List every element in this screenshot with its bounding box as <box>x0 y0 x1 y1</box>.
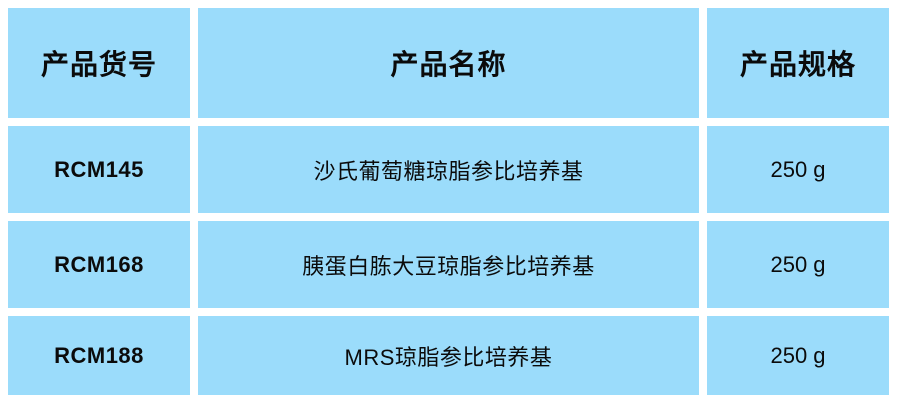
cell-product-name: 沙氏葡萄糖琼脂参比培养基 <box>198 126 699 213</box>
cell-product-code: RCM188 <box>8 316 190 395</box>
product-specification-table: 产品货号 产品名称 产品规格 RCM145 沙氏葡萄糖琼脂参比培养基 250 g… <box>0 0 897 403</box>
table-header-row: 产品货号 产品名称 产品规格 <box>8 8 889 118</box>
column-header-product-name: 产品名称 <box>198 8 699 118</box>
cell-product-name: MRS琼脂参比培养基 <box>198 316 699 395</box>
column-header-product-spec: 产品规格 <box>707 8 889 118</box>
cell-product-code: RCM145 <box>8 126 190 213</box>
column-header-product-code: 产品货号 <box>8 8 190 118</box>
cell-product-spec: 250 g <box>707 126 889 213</box>
cell-product-code: RCM168 <box>8 221 190 308</box>
table-row: RCM168 胰蛋白胨大豆琼脂参比培养基 250 g <box>8 221 889 308</box>
table-row: RCM145 沙氏葡萄糖琼脂参比培养基 250 g <box>8 126 889 213</box>
cell-product-spec: 250 g <box>707 316 889 395</box>
table-row: RCM188 MRS琼脂参比培养基 250 g <box>8 316 889 395</box>
cell-product-spec: 250 g <box>707 221 889 308</box>
cell-product-name: 胰蛋白胨大豆琼脂参比培养基 <box>198 221 699 308</box>
